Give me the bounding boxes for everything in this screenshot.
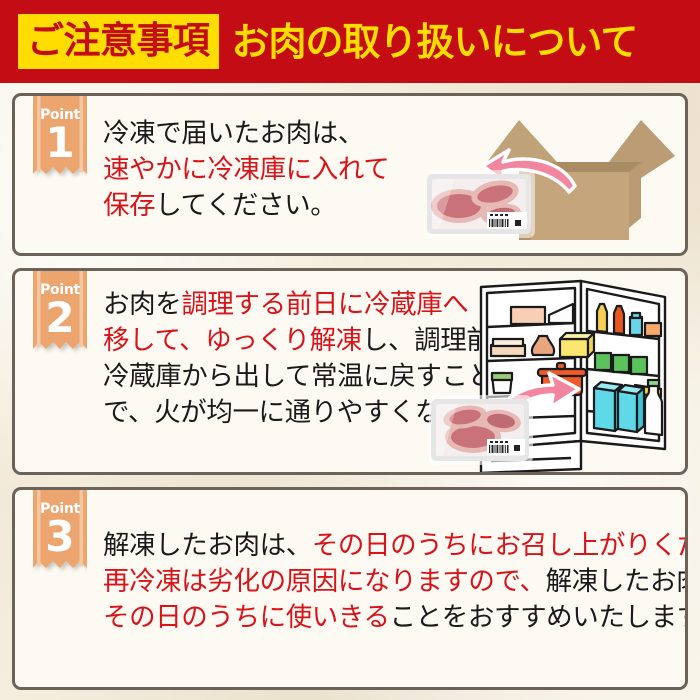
point-card-1: Point 1 冷凍で届いたお肉は、 速やかに冷凍庫に入れて 保存してください。 — [12, 93, 688, 256]
text-line: 再冷凍は劣化の原因になりますので、解凍したお肉は — [103, 564, 688, 600]
text-line: 保存してください。 — [103, 188, 389, 224]
text-run: ことをおすすめいたします。 — [390, 602, 688, 633]
point-ribbon-3: Point 3 — [33, 490, 87, 582]
meat-tray-illustration — [427, 170, 535, 238]
page-header: ご注意事項 お肉の取り扱いについて — [0, 0, 700, 83]
text-run: 再冷凍は劣化の原因になりますので、 — [103, 566, 546, 597]
text-run: お肉を — [103, 289, 181, 320]
text-run: 保存 — [103, 190, 155, 221]
point-card-2: Point 2 お肉を調理する前日に冷蔵庫へ 移して、ゆっくり解凍し、調理前に … — [12, 268, 688, 475]
text-line: 冷凍で届いたお肉は、 — [103, 116, 389, 152]
text-run: 移して、ゆっくり解凍 — [103, 325, 362, 356]
notice-page: ご注意事項 お肉の取り扱いについて Point 1 冷凍で届いたお肉は、 — [0, 0, 700, 700]
text-run: 調理する前日に冷蔵庫へ — [181, 289, 468, 320]
text-line: その日のうちに使いきることをおすすめいたします。 — [103, 600, 688, 636]
ribbon-number-1: 1 — [33, 122, 87, 164]
text-run: 冷凍で届いたお肉は、 — [103, 118, 364, 149]
ribbon-number-3: 3 — [33, 516, 87, 558]
point-ribbon-1: Point 1 — [33, 96, 87, 188]
ribbon-number-2: 2 — [33, 297, 87, 339]
point-ribbon-2: Point 2 — [33, 271, 87, 363]
header-badge: ご注意事項 — [18, 14, 219, 69]
text-run: 解凍したお肉は — [546, 566, 688, 597]
meat-tray-illustration — [429, 395, 533, 465]
text-line: 速やかに冷凍庫に入れて — [103, 152, 389, 188]
text-run: その日のうちにお召し上がりください。 — [312, 530, 688, 561]
text-run: してください。 — [155, 190, 336, 221]
text-line: 解凍したお肉は、その日のうちにお召し上がりください。 — [103, 528, 688, 564]
text-run: その日のうちに使いきる — [103, 602, 390, 633]
page-title: お肉の取り扱いについて — [232, 23, 638, 61]
text-run: 速やかに冷凍庫に入れて — [103, 154, 389, 185]
text-run: 解凍したお肉は、 — [103, 530, 312, 561]
point-text-1: 冷凍で届いたお肉は、 速やかに冷凍庫に入れて 保存してください。 — [103, 116, 389, 224]
illustration-frozen-meat-box — [427, 100, 677, 256]
point-text-3: 解凍したお肉は、その日のうちにお召し上がりください。 再冷凍は劣化の原因になりま… — [103, 528, 688, 636]
illustration-refrigerator — [429, 273, 675, 475]
point-card-3: Point 3 解凍したお肉は、その日のうちにお召し上がりください。 再冷凍は劣… — [12, 487, 688, 690]
